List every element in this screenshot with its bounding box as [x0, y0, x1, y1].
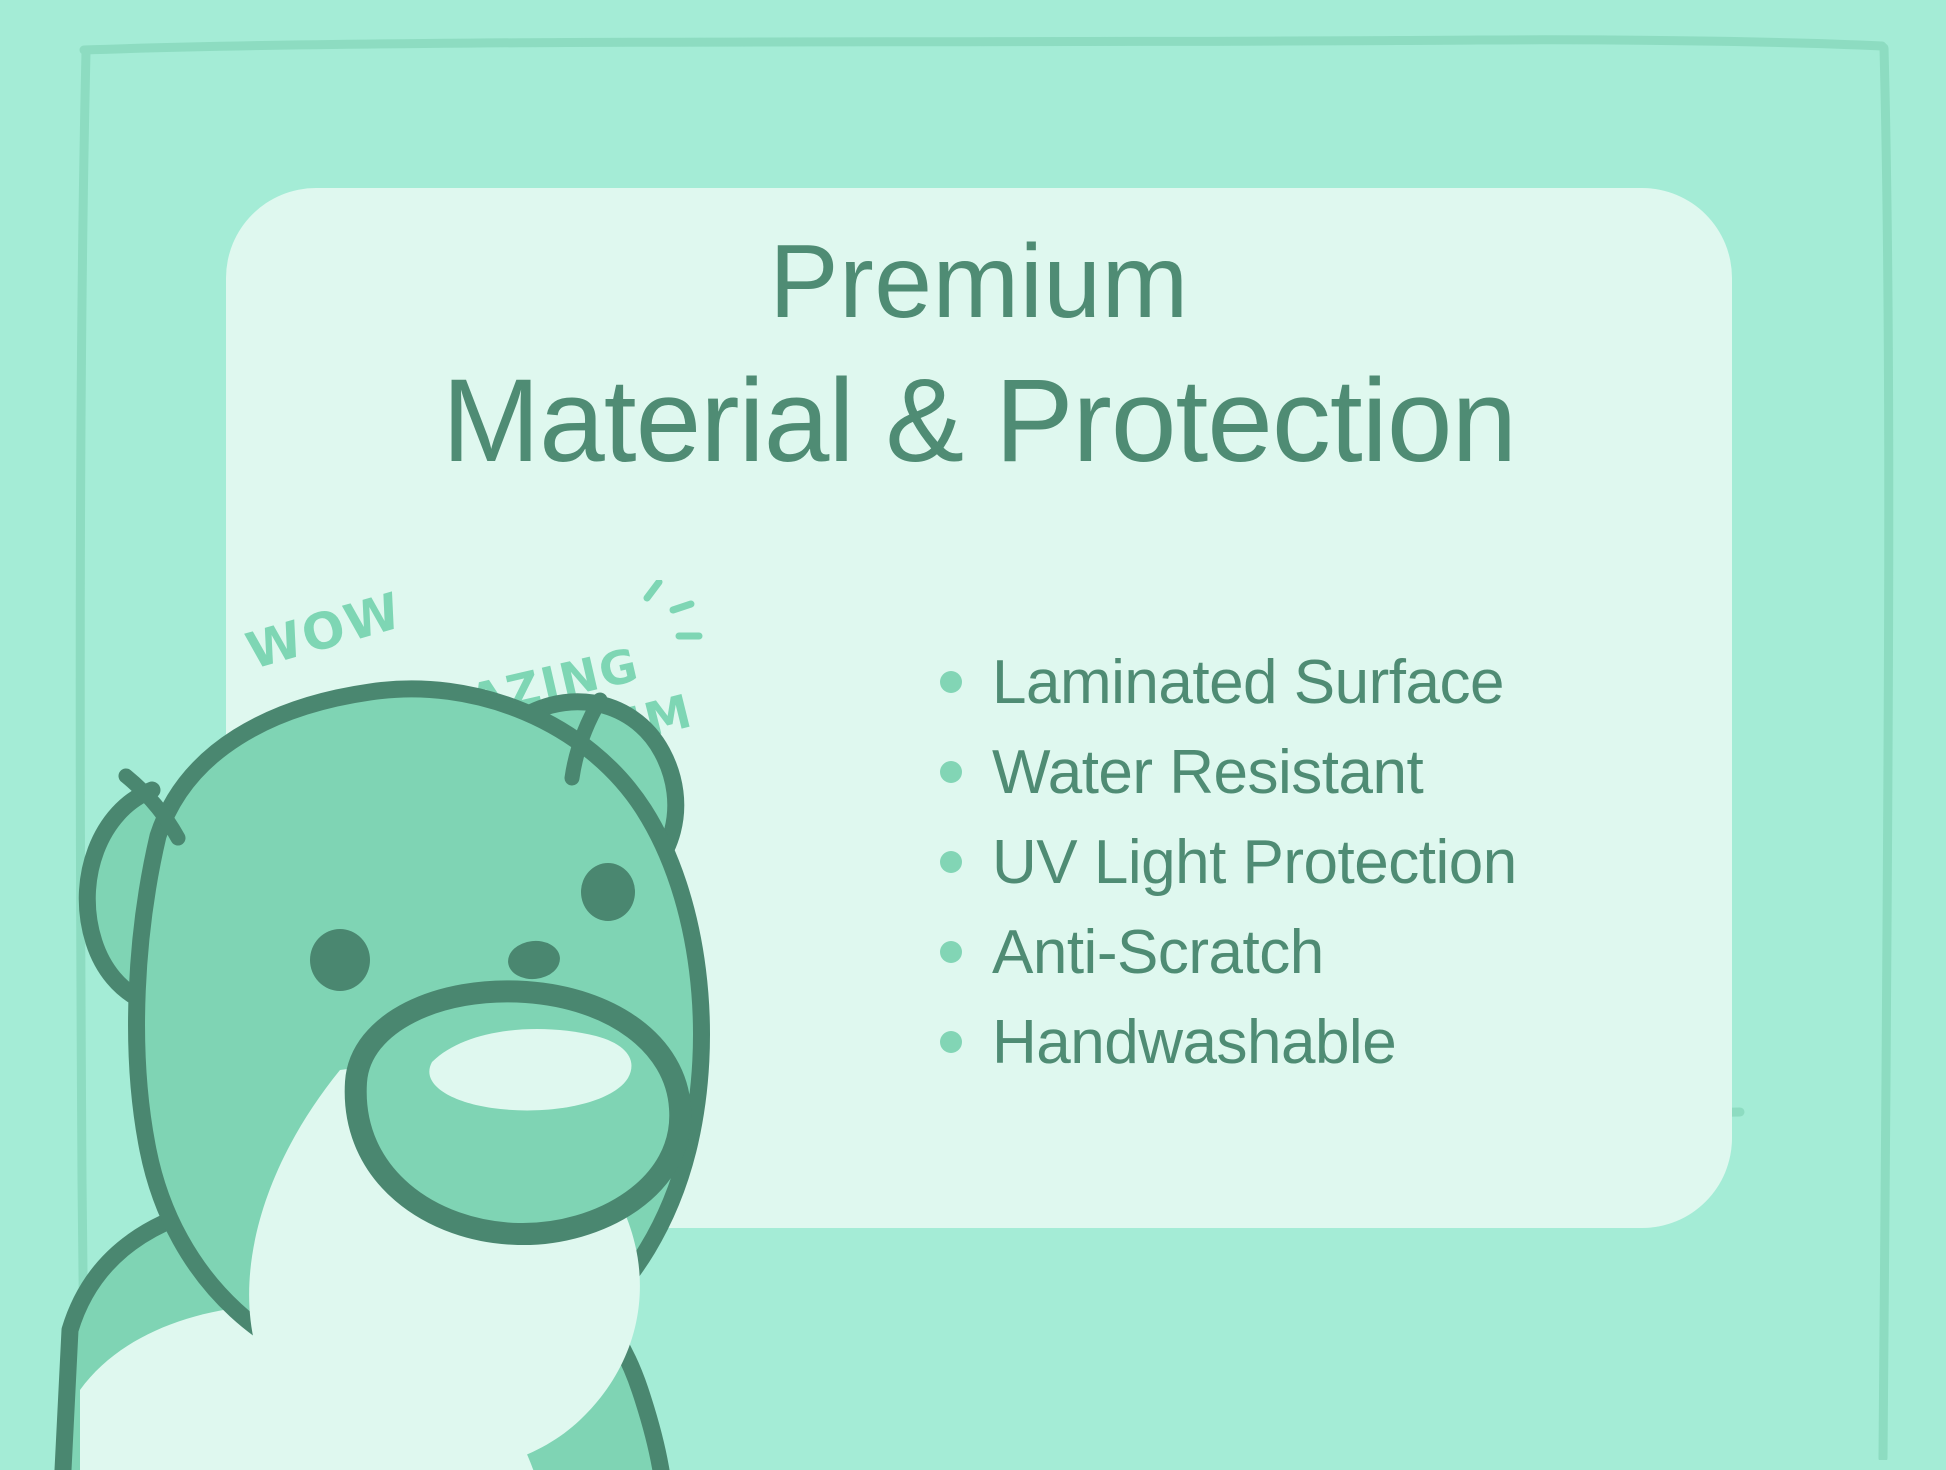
page-title: Premium Material & Protection	[226, 230, 1732, 480]
list-item: Laminated Surface	[940, 650, 1517, 714]
bullet-dot-icon	[940, 851, 962, 873]
feature-list: Laminated Surface Water Resistant UV Lig…	[940, 650, 1517, 1100]
poster-canvas: Premium Material & Protection WOW SO AMA…	[0, 0, 1946, 1460]
bullet-dot-icon	[940, 1031, 962, 1053]
bear-mascot-illustration	[40, 630, 800, 1470]
feature-label: UV Light Protection	[992, 827, 1517, 898]
list-item: Anti-Scratch	[940, 920, 1517, 984]
list-item: Water Resistant	[940, 740, 1517, 804]
feature-label: Anti-Scratch	[992, 917, 1324, 988]
feature-label: Water Resistant	[992, 737, 1423, 808]
list-item: Handwashable	[940, 1010, 1517, 1074]
title-line-2: Material & Protection	[226, 362, 1732, 480]
bullet-dot-icon	[940, 761, 962, 783]
bullet-dot-icon	[940, 671, 962, 693]
bullet-dot-icon	[940, 941, 962, 963]
feature-label: Handwashable	[992, 1007, 1396, 1078]
list-item: UV Light Protection	[940, 830, 1517, 894]
title-line-1: Premium	[226, 230, 1732, 334]
feature-label: Laminated Surface	[992, 647, 1504, 718]
